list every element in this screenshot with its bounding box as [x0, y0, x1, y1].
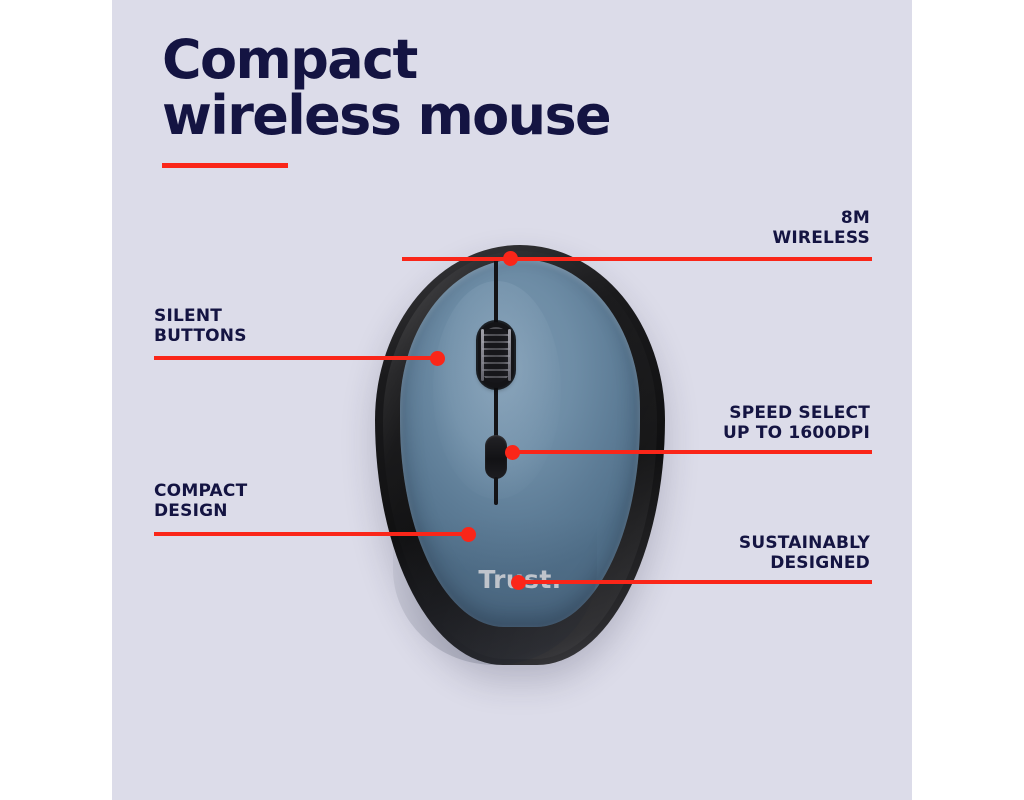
mouse-product-image: Trust. [375, 245, 665, 665]
leader-line-silent-buttons [154, 356, 437, 360]
callout-silent-buttons: SILENT BUTTONS [154, 306, 247, 346]
leader-line-speed-select [510, 450, 872, 454]
leader-dot-wireless-range [503, 251, 518, 266]
callout-compact-design-line-1: COMPACT [154, 481, 247, 501]
callout-speed-select-line-1: SPEED SELECT [723, 403, 870, 423]
scroll-wheel-rail-right [508, 329, 511, 381]
mouse-lower-seam [494, 477, 498, 503]
callout-speed-select-line-2: UP TO 1600DPI [723, 423, 870, 443]
callout-compact-design: COMPACT DESIGN [154, 481, 247, 521]
leader-dot-silent-buttons [430, 351, 445, 366]
product-infographic: Compact wireless mouse Trust. 8M WIRE [0, 0, 1024, 800]
page-title: Compact wireless mouse [162, 32, 802, 168]
leader-dot-compact-design [461, 527, 476, 542]
infographic-panel: Compact wireless mouse Trust. 8M WIRE [112, 0, 912, 800]
scroll-wheel-rail-left [481, 329, 484, 381]
dpi-speed-select-button [485, 435, 507, 479]
leader-dot-sustainably-designed [511, 575, 526, 590]
callout-sustainably-designed-line-2: DESIGNED [739, 553, 870, 573]
callout-compact-design-line-2: DESIGN [154, 501, 247, 521]
callout-wireless-range: 8M WIRELESS [772, 208, 870, 248]
callout-silent-buttons-line-2: BUTTONS [154, 326, 247, 346]
callout-wireless-range-line-1: 8M [772, 208, 870, 228]
leader-line-compact-design [154, 532, 468, 536]
callout-speed-select: SPEED SELECT UP TO 1600DPI [723, 403, 870, 443]
title-underline-rule [162, 163, 288, 168]
callout-wireless-range-line-2: WIRELESS [772, 228, 870, 248]
title-line-2: wireless mouse [162, 88, 802, 144]
leader-line-wireless-range [402, 257, 872, 261]
leader-line-sustainably-designed [516, 580, 872, 584]
scroll-wheel-tread [482, 327, 510, 383]
leader-dot-speed-select [505, 445, 520, 460]
callout-sustainably-designed-line-1: SUSTAINABLY [739, 533, 870, 553]
callout-sustainably-designed: SUSTAINABLY DESIGNED [739, 533, 870, 573]
title-line-1: Compact [162, 32, 802, 88]
callout-silent-buttons-line-1: SILENT [154, 306, 247, 326]
scroll-wheel [478, 322, 514, 388]
